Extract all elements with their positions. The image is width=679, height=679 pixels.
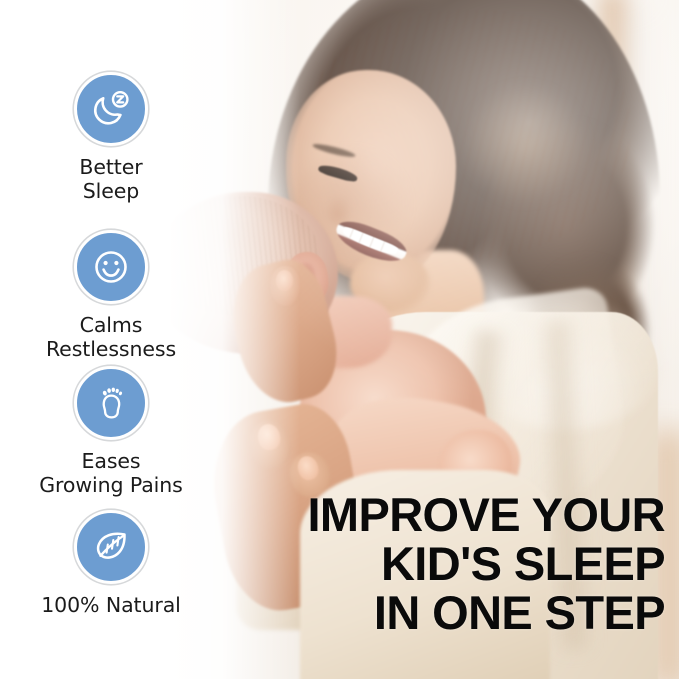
- benefit-badge-label: Calms Restlessness: [0, 313, 222, 361]
- footprint-icon: [74, 366, 148, 440]
- benefit-badge-label: 100% Natural: [0, 593, 222, 617]
- benefit-badge-eases-growing-pains: Eases Growing Pains: [0, 366, 222, 497]
- benefit-badge-better-sleep: Better Sleep: [0, 72, 222, 203]
- leaf-icon: [74, 510, 148, 584]
- benefit-badge-label: Eases Growing Pains: [0, 449, 222, 497]
- smiley-face-icon: [74, 230, 148, 304]
- benefit-badge-list: Better Sleep Calms Restlessness: [0, 0, 222, 679]
- headline-text: IMPROVE YOUR KID'S SLEEP IN ONE STEP: [307, 490, 665, 637]
- benefit-badge-100-natural: 100% Natural: [0, 510, 222, 617]
- benefit-badge-calms-restlessness: Calms Restlessness: [0, 230, 222, 361]
- moon-sleep-icon: [74, 72, 148, 146]
- benefit-badge-label: Better Sleep: [0, 155, 222, 203]
- product-banner: Better Sleep Calms Restlessness: [0, 0, 679, 679]
